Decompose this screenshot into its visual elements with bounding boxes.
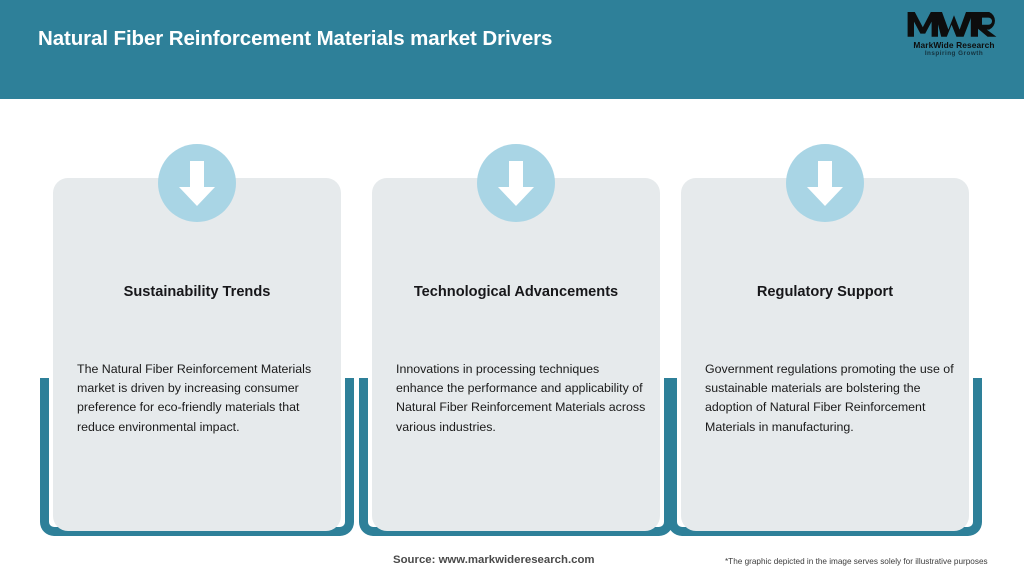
source-label: Source: www.markwideresearch.com: [393, 554, 595, 566]
card-panel: Regulatory Support Government regulation…: [681, 178, 969, 531]
down-arrow-badge: [786, 144, 864, 222]
down-arrow-icon: [494, 157, 538, 209]
disclaimer-label: *The graphic depicted in the image serve…: [725, 557, 988, 566]
card-body-text: The Natural Fiber Reinforcement Material…: [77, 360, 327, 437]
driver-card-2: Technological Advancements Innovations i…: [359, 144, 673, 536]
cards-container: Sustainability Trends The Natural Fiber …: [0, 0, 1024, 576]
down-arrow-badge: [477, 144, 555, 222]
driver-card-3: Regulatory Support Government regulation…: [668, 144, 982, 536]
infographic-page: Natural Fiber Reinforcement Materials ma…: [0, 0, 1024, 576]
driver-card-1: Sustainability Trends The Natural Fiber …: [40, 144, 354, 536]
card-body-text: Government regulations promoting the use…: [705, 360, 955, 437]
card-title: Technological Advancements: [388, 284, 644, 302]
down-arrow-icon: [175, 157, 219, 209]
card-panel: Technological Advancements Innovations i…: [372, 178, 660, 531]
card-body-text: Innovations in processing techniques enh…: [396, 360, 646, 437]
card-title: Regulatory Support: [697, 284, 953, 302]
down-arrow-badge: [158, 144, 236, 222]
card-panel: Sustainability Trends The Natural Fiber …: [53, 178, 341, 531]
down-arrow-icon: [803, 157, 847, 209]
card-title: Sustainability Trends: [69, 284, 325, 302]
